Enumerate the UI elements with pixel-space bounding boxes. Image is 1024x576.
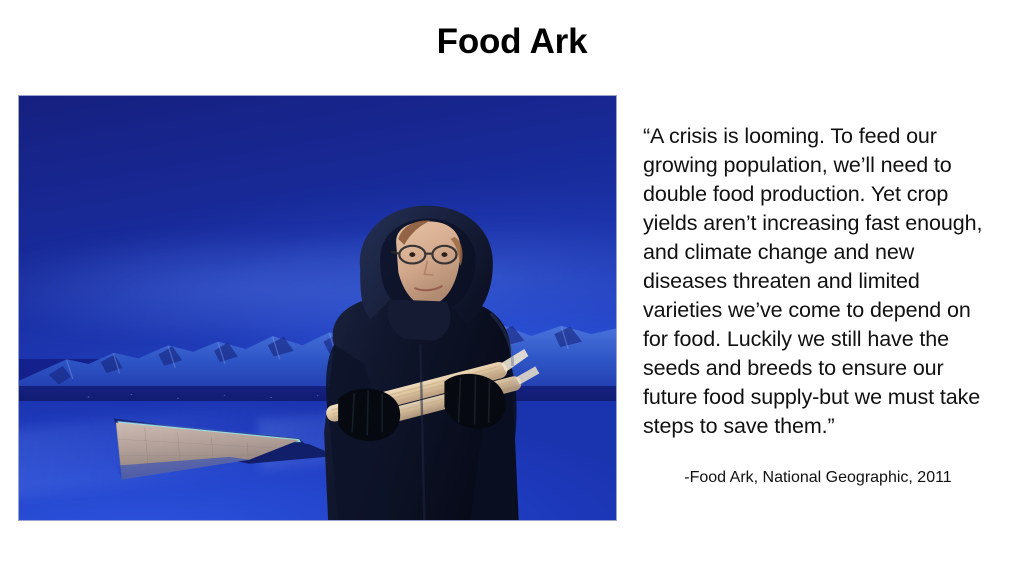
seed-vault-photograph <box>19 96 616 520</box>
quote-text: “A crisis is looming. To feed our growin… <box>643 122 993 441</box>
quote-attribution: -Food Ark, National Geographic, 2011 <box>643 468 993 488</box>
person-in-parka <box>294 198 545 520</box>
page-title: Food Ark <box>0 22 1024 62</box>
